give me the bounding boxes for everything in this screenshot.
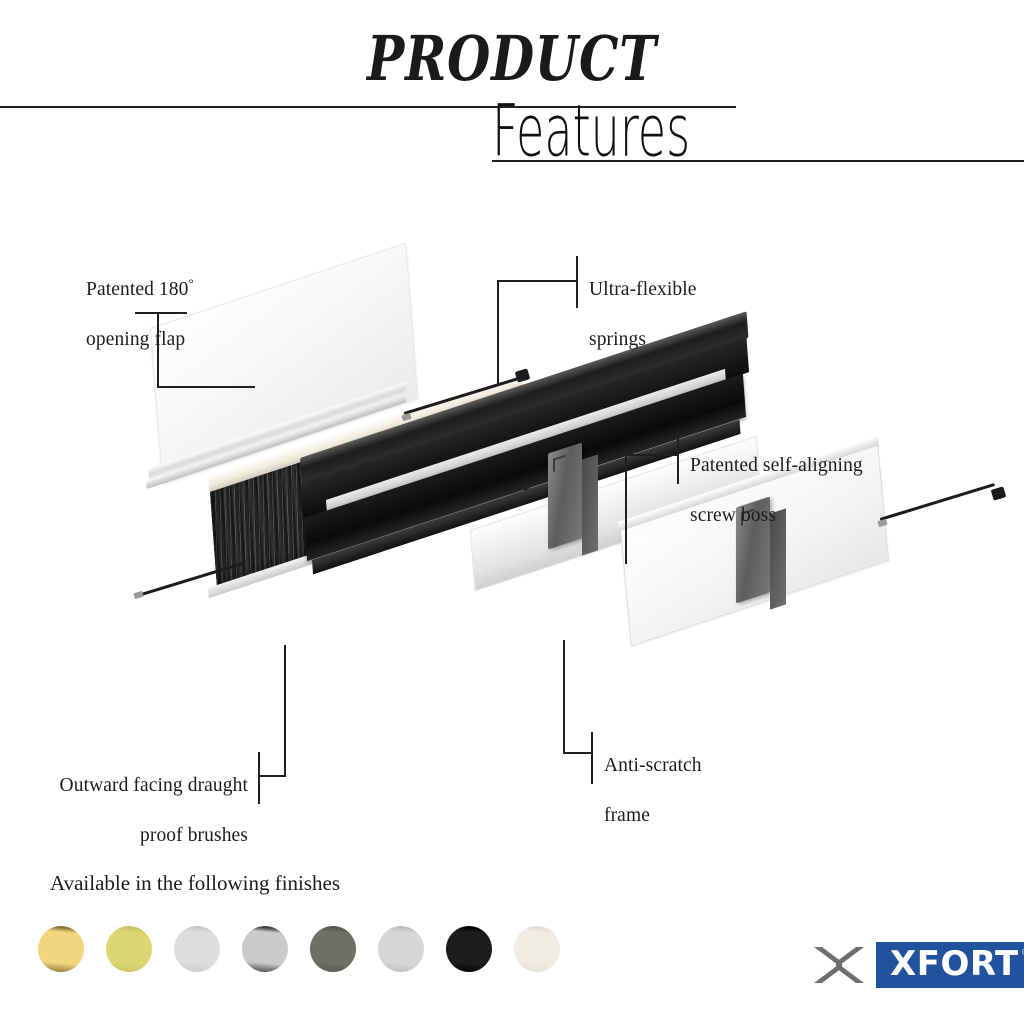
screw-boss-left — [548, 442, 582, 549]
finish-swatch-polished-chrome[interactable] — [174, 926, 220, 972]
callout-line-1: Patented 180 — [86, 279, 188, 300]
leader-vertical-opening-flap — [157, 312, 159, 388]
callout-line-2: frame — [604, 805, 650, 826]
finish-swatch-brushed-silver[interactable] — [378, 926, 424, 972]
leader-horizontal-opening-flap — [157, 386, 255, 388]
callout-label-springs: Ultra-flexible springs — [589, 252, 829, 352]
callout-line-1: Patented self-aligning — [690, 455, 863, 476]
xfort-x-mark-icon — [812, 944, 866, 986]
screw-boss-left-side — [582, 454, 598, 555]
finish-swatch-antique-brass[interactable] — [106, 926, 152, 972]
spring-head-right — [991, 486, 1007, 500]
finish-swatch-cream-white[interactable] — [514, 926, 560, 972]
page-title-script: PRODUCT — [102, 28, 921, 90]
page-title-main: Features — [492, 96, 690, 168]
finish-swatch-satin-chrome[interactable] — [242, 926, 288, 972]
callout-line-2: screw boss — [690, 505, 776, 526]
callout-line-2: proof brushes — [140, 825, 248, 846]
leader-vertical-brushes — [284, 645, 286, 777]
callout-label-screw-boss: Patented self-aligning screw boss — [690, 428, 990, 528]
leader-horizontal-brushes — [258, 775, 286, 777]
leader-vertical-anti-scratch — [563, 640, 565, 754]
finish-swatch-matt-black[interactable] — [446, 926, 492, 972]
header-rule-right — [492, 160, 1024, 162]
callout-line-1: Outward facing draught — [60, 775, 248, 796]
leader-horizontal-anti-scratch — [563, 752, 593, 754]
callout-label-opening-flap: Patented 180° opening flap — [86, 252, 346, 352]
callout-line-2: opening flap — [86, 329, 185, 350]
xfort-wordmark: XFORT — [890, 946, 1019, 982]
brand-logo: XFORT ® — [812, 942, 1024, 988]
spring-head-top — [515, 368, 531, 382]
spring-tip-left — [133, 591, 143, 599]
leader-horizontal-screw-boss — [625, 454, 679, 456]
leader-vertical-springs — [497, 280, 499, 385]
leader-tick-anti-scratch — [591, 732, 593, 784]
finish-swatch-row — [38, 926, 560, 972]
leader-horizontal-springs — [497, 280, 577, 282]
leader-vertical-screw-boss — [625, 454, 627, 564]
finish-swatch-polished-gold[interactable] — [38, 926, 84, 972]
xfort-wordmark-box: XFORT ® — [876, 942, 1024, 988]
leader-tick-brushes — [258, 752, 260, 804]
callout-label-brushes: Outward facing draught proof brushes — [0, 748, 248, 848]
leader-tick-springs — [576, 256, 578, 308]
degree-symbol: ° — [188, 276, 193, 291]
finish-swatch-bronze[interactable] — [310, 926, 356, 972]
screw-boss-notch-icon — [553, 455, 566, 472]
leader-tick-opening-flap — [135, 312, 187, 314]
callout-line-1: Anti-scratch — [604, 755, 702, 776]
callout-line-1: Ultra-flexible — [589, 279, 697, 300]
leader-tick-screw-boss — [677, 432, 679, 484]
finishes-title: Available in the following finishes — [50, 871, 340, 896]
callout-line-2: springs — [589, 329, 646, 350]
callout-label-anti-scratch: Anti-scratch frame — [604, 728, 824, 828]
infographic-canvas: PRODUCT Features — [0, 0, 1024, 1024]
